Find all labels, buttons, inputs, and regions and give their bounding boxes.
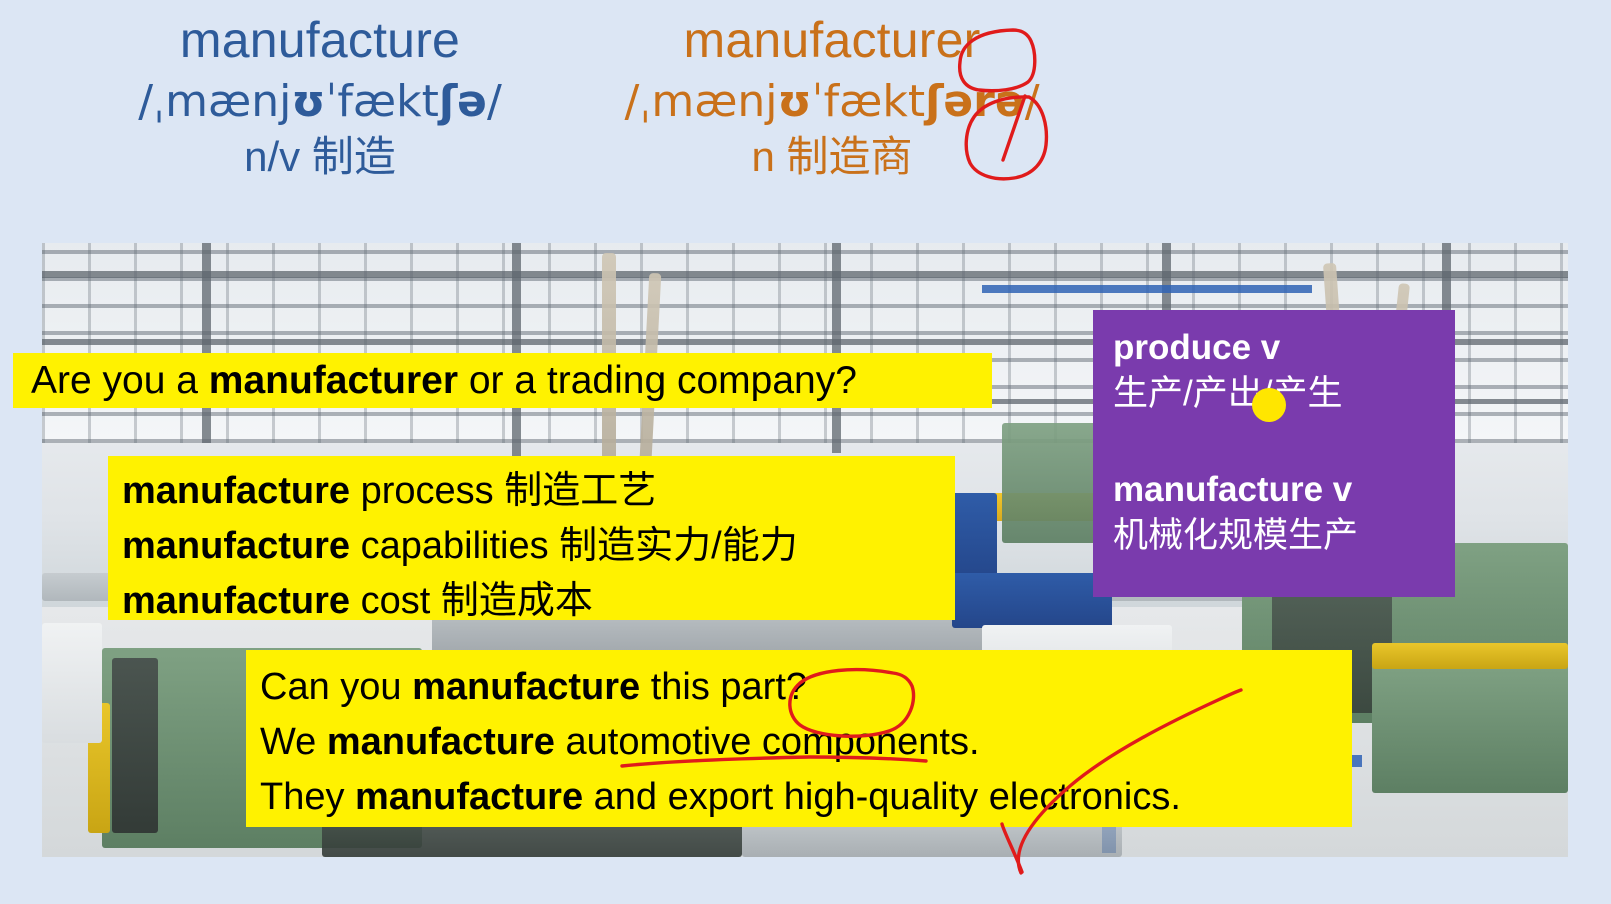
ipa-part: / [487,76,502,127]
ipa-part: /ˌmænj [138,76,291,127]
collocation-rest: capabilities 制造实力/能力 [350,525,798,567]
purple-entry-manufacture-word: manufacture v [1113,468,1455,512]
ipa-stress-part: ʃərə [925,76,1025,127]
ipa-stress-part: ʊ [291,76,325,127]
collocation-keyword: manufacture [122,470,350,512]
highlight-example-sentences: Can you manufacture this part? We manufa… [246,650,1352,827]
sentence-pre: We [260,721,327,763]
vocab-word: manufacture [60,14,580,67]
sentence-row: We manufacture automotive components. [260,715,1352,770]
vocab-gloss: n/v 制造 [60,135,580,179]
sentence-row: Can you manufacture this part? [260,660,1352,715]
ipa-part: ˈfækt [812,76,926,127]
vocab-entry-manufacture: manufacture /ˌmænjʊˈfæktʃə/ n/v 制造 [60,14,580,179]
ipa-stress-part: ʊ [778,76,812,127]
purple-entry-manufacture-gloss: 机械化规模生产 [1113,512,1455,560]
ipa-part: / [1025,76,1040,127]
vocabulary-header: manufacture /ˌmænjʊˈfæktʃə/ n/v 制造 manuf… [0,0,1611,240]
collocation-row: manufacture cost 制造成本 [122,574,955,629]
question-keyword: manufacturer [209,359,458,402]
purple-comparison-box: produce v 生产/产出/产生 manufacture v 机械化规模生产 [1093,310,1455,597]
sentence-keyword: manufacture [412,666,640,708]
sentence-keyword: manufacture [327,721,555,763]
cursor-dot [1252,388,1286,422]
highlight-question: Are you a manufacturer or a trading comp… [13,353,992,408]
sentence-post: this part? [640,666,807,708]
vocab-pronunciation: /ˌmænjʊˈfæktʃərə/ [572,79,1092,125]
highlight-collocations: manufacture process 制造工艺 manufacture cap… [108,456,955,620]
vocab-pronunciation: /ˌmænjʊˈfæktʃə/ [60,79,580,125]
question-text-post: or a trading company? [458,359,857,402]
sentence-post: automotive components. [555,721,980,763]
ipa-stress-part: ʃə [439,76,487,127]
sentence-keyword: manufacture [355,776,583,818]
vocab-entry-manufacturer: manufacturer /ˌmænjʊˈfæktʃərə/ n 制造商 [572,14,1092,179]
collocation-row: manufacture capabilities 制造实力/能力 [122,519,955,574]
purple-box-spacer [1113,418,1455,468]
sentence-row: They manufacture and export high-quality… [260,770,1352,825]
purple-entry-produce-word: produce v [1113,326,1455,370]
collocation-rest: cost 制造成本 [350,580,593,622]
ipa-part: ˈfækt [325,76,439,127]
sentence-post: and export high-quality electronics. [583,776,1181,818]
vocab-gloss: n 制造商 [572,135,1092,179]
vocab-word: manufacturer [572,14,1092,67]
sentence-pre: Can you [260,666,412,708]
slide-canvas: manufacture /ˌmænjʊˈfæktʃə/ n/v 制造 manuf… [0,0,1611,904]
question-text-pre: Are you a [31,359,209,402]
collocation-row: manufacture process 制造工艺 [122,464,955,519]
collocation-keyword: manufacture [122,580,350,622]
collocation-rest: process 制造工艺 [350,470,656,512]
collocation-keyword: manufacture [122,525,350,567]
sentence-pre: They [260,776,355,818]
ipa-part: /ˌmænj [624,76,777,127]
